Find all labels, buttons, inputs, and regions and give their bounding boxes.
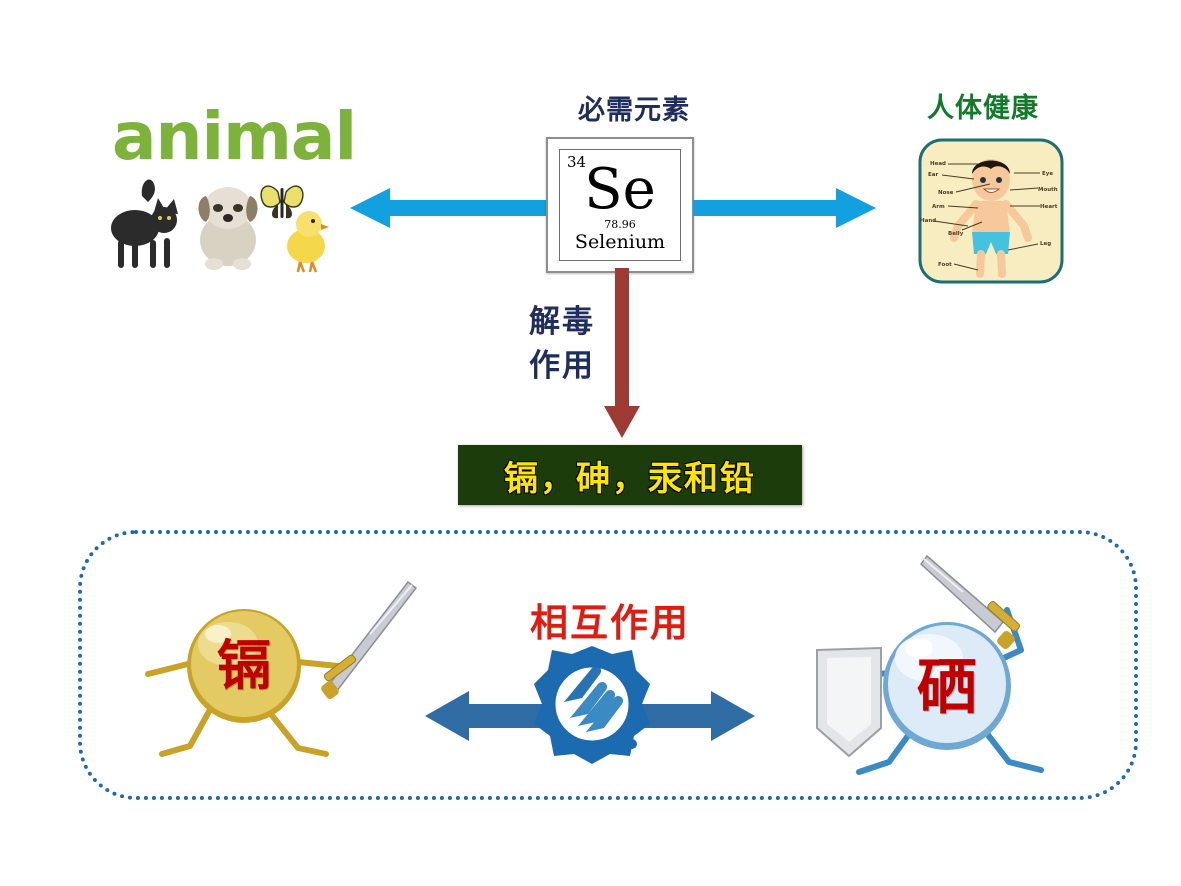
diagram-canvas: animal <box>0 0 1181 886</box>
human-body-diagram: Head Ear Nose Arm Hand Belly Foot Eye Mo… <box>918 138 1064 284</box>
selenium-ball-label: 硒 <box>917 653 977 723</box>
svg-text:Hand: Hand <box>920 218 936 224</box>
svg-text:Leg: Leg <box>1040 241 1051 247</box>
essential-element-title: 必需元素 <box>544 88 724 127</box>
detox-down-arrow <box>604 268 640 443</box>
sword <box>320 582 416 701</box>
selenium-warrior: 硒 <box>795 550 1085 790</box>
arrow-to-human-health <box>693 186 878 235</box>
detox-label: 解毒 作用 <box>512 300 612 388</box>
heavy-metals-banner: 镉，砷，汞和铅 <box>458 445 802 505</box>
interaction-label: 相互作用 <box>500 592 720 647</box>
animal-title: animal <box>112 104 356 170</box>
svg-text:Head: Head <box>930 161 946 167</box>
human-health-title: 人体健康 <box>898 86 1068 125</box>
svg-text:Nose: Nose <box>938 190 954 196</box>
atomic-mass: 78.96 <box>560 218 680 231</box>
svg-text:Heart: Heart <box>1040 204 1058 210</box>
detox-label-line1: 解毒 <box>512 300 612 344</box>
cadmium-ball-label: 镉 <box>217 634 271 697</box>
svg-text:Foot: Foot <box>938 262 952 268</box>
selenium-element-card: 34 Se 78.96 Selenium <box>546 137 694 273</box>
heavy-metals-label: 镉，砷，汞和铅 <box>504 451 756 500</box>
arrow-to-animal <box>348 186 548 235</box>
element-symbol: Se <box>560 162 680 218</box>
handshake-interaction-icon <box>528 640 656 773</box>
selenium-card-inner: 34 Se 78.96 Selenium <box>559 149 681 261</box>
element-name: Selenium <box>560 231 680 253</box>
svg-text:Mouth: Mouth <box>1038 187 1058 193</box>
svg-text:Belly: Belly <box>948 231 964 237</box>
detox-label-line2: 作用 <box>512 344 612 388</box>
svg-text:Arm: Arm <box>932 204 945 210</box>
svg-text:Eye: Eye <box>1042 171 1053 177</box>
animals-photo <box>110 168 340 283</box>
svg-text:Ear: Ear <box>928 172 938 178</box>
shield <box>817 648 881 756</box>
cadmium-warrior: 镉 <box>140 556 440 786</box>
